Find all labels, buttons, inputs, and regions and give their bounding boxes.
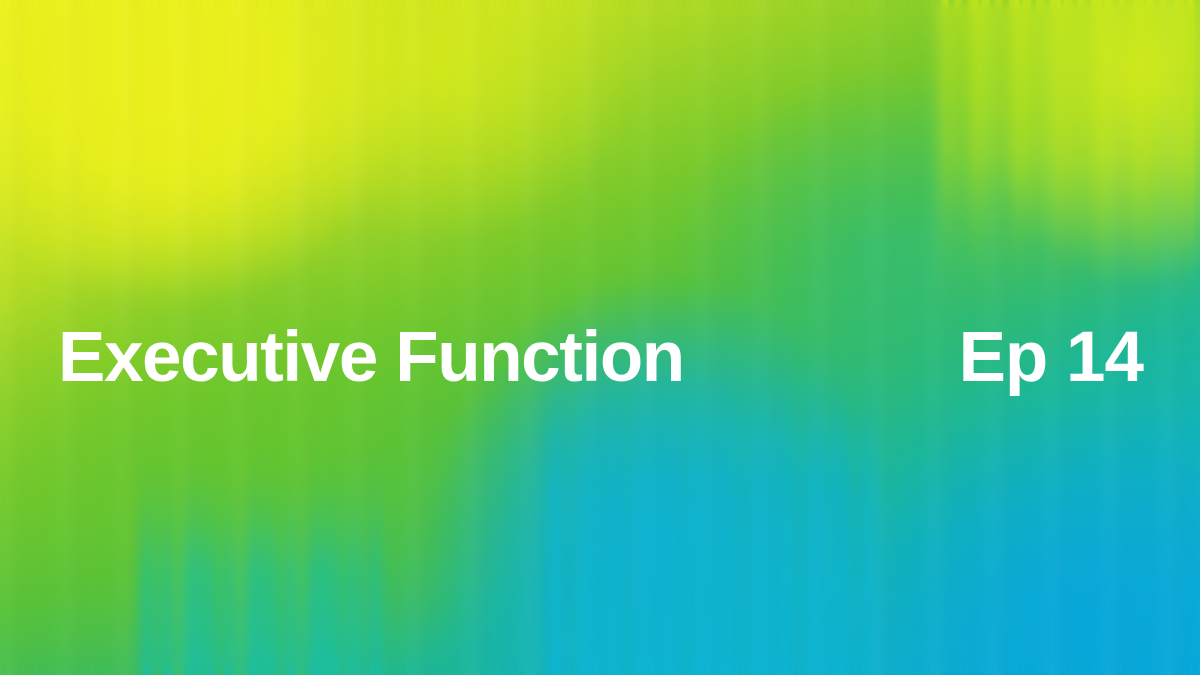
page-title: Executive Function <box>58 320 684 396</box>
episode-title-card: Executive Function Ep 14 <box>0 0 1200 675</box>
teal-drip-streaks-left-icon <box>140 380 380 675</box>
title-row: Executive Function Ep 14 <box>58 320 1143 396</box>
cyan-drip-streaks-center-icon <box>545 230 875 675</box>
episode-label: Ep 14 <box>959 320 1143 396</box>
